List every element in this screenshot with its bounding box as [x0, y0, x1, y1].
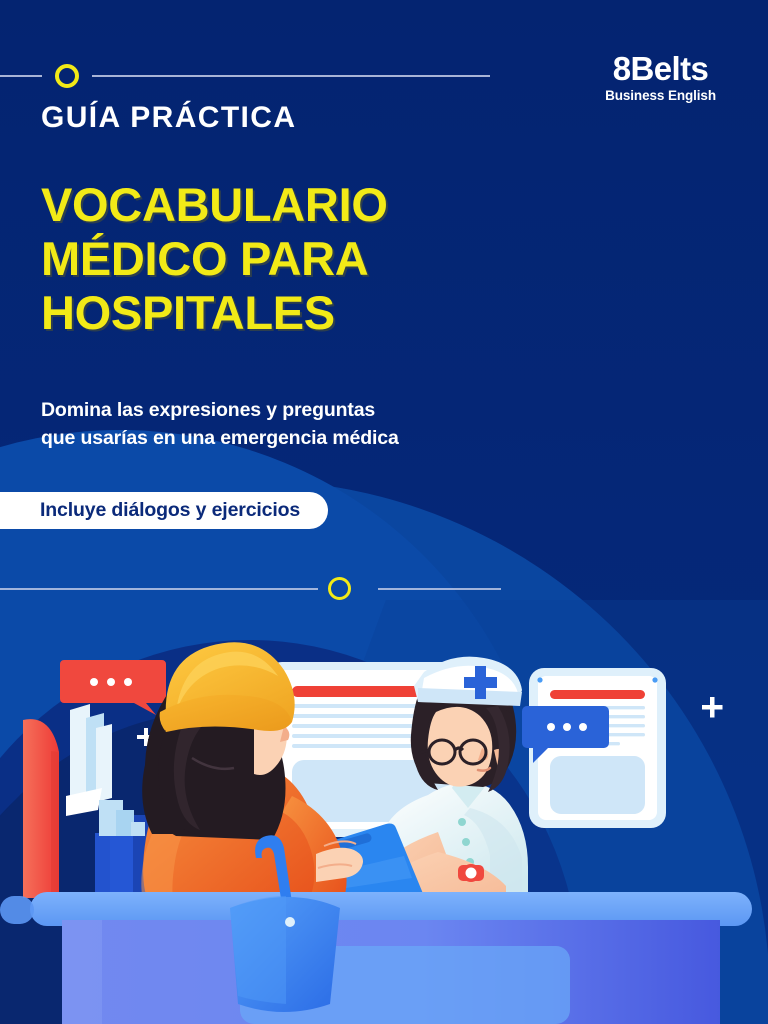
title-line-3: HOSPITALES: [41, 286, 335, 339]
illustration-svg: [0, 600, 768, 1024]
brand-logo: 8Belts Business English: [605, 52, 716, 103]
title-line-2: MÉDICO PARA: [41, 232, 368, 285]
subtitle-line-2: que usarías en una emergencia médica: [41, 427, 399, 449]
yellow-ring-top-icon: [55, 64, 79, 88]
page-title: VOCABULARIO MÉDICO PARA HOSPITALES: [41, 178, 561, 340]
subtitle-line-1: Domina las expresiones y preguntas: [41, 399, 375, 421]
title-line-1: VOCABULARIO: [41, 178, 388, 231]
speech-bubble-red: [60, 660, 166, 715]
divider-line-right: [92, 75, 490, 77]
yellow-ring-middle-icon: [328, 577, 351, 600]
poster-page: 8Belts Business English GUÍA PRÁCTICA VO…: [0, 0, 768, 1024]
hospital-reception-illustration: [0, 600, 768, 1024]
badge-label: Incluye diálogos y ejercicios: [40, 499, 300, 522]
page-subtitle: Domina las expresiones y preguntas que u…: [41, 396, 641, 453]
wristwatch: [458, 864, 484, 882]
middle-divider-line-left: [0, 588, 318, 590]
eyebrow-label: GUÍA PRÁCTICA: [41, 101, 296, 134]
middle-divider-line-right: [378, 588, 501, 590]
reception-desk: [30, 892, 752, 1024]
divider-line-left: [0, 75, 42, 77]
brand-name: 8Belts: [605, 52, 716, 85]
badge-includes: Incluye diálogos y ejercicios: [0, 492, 328, 529]
middle-divider: [0, 577, 768, 601]
brand-tagline: Business English: [605, 88, 716, 103]
yellow-hat: [160, 642, 295, 732]
